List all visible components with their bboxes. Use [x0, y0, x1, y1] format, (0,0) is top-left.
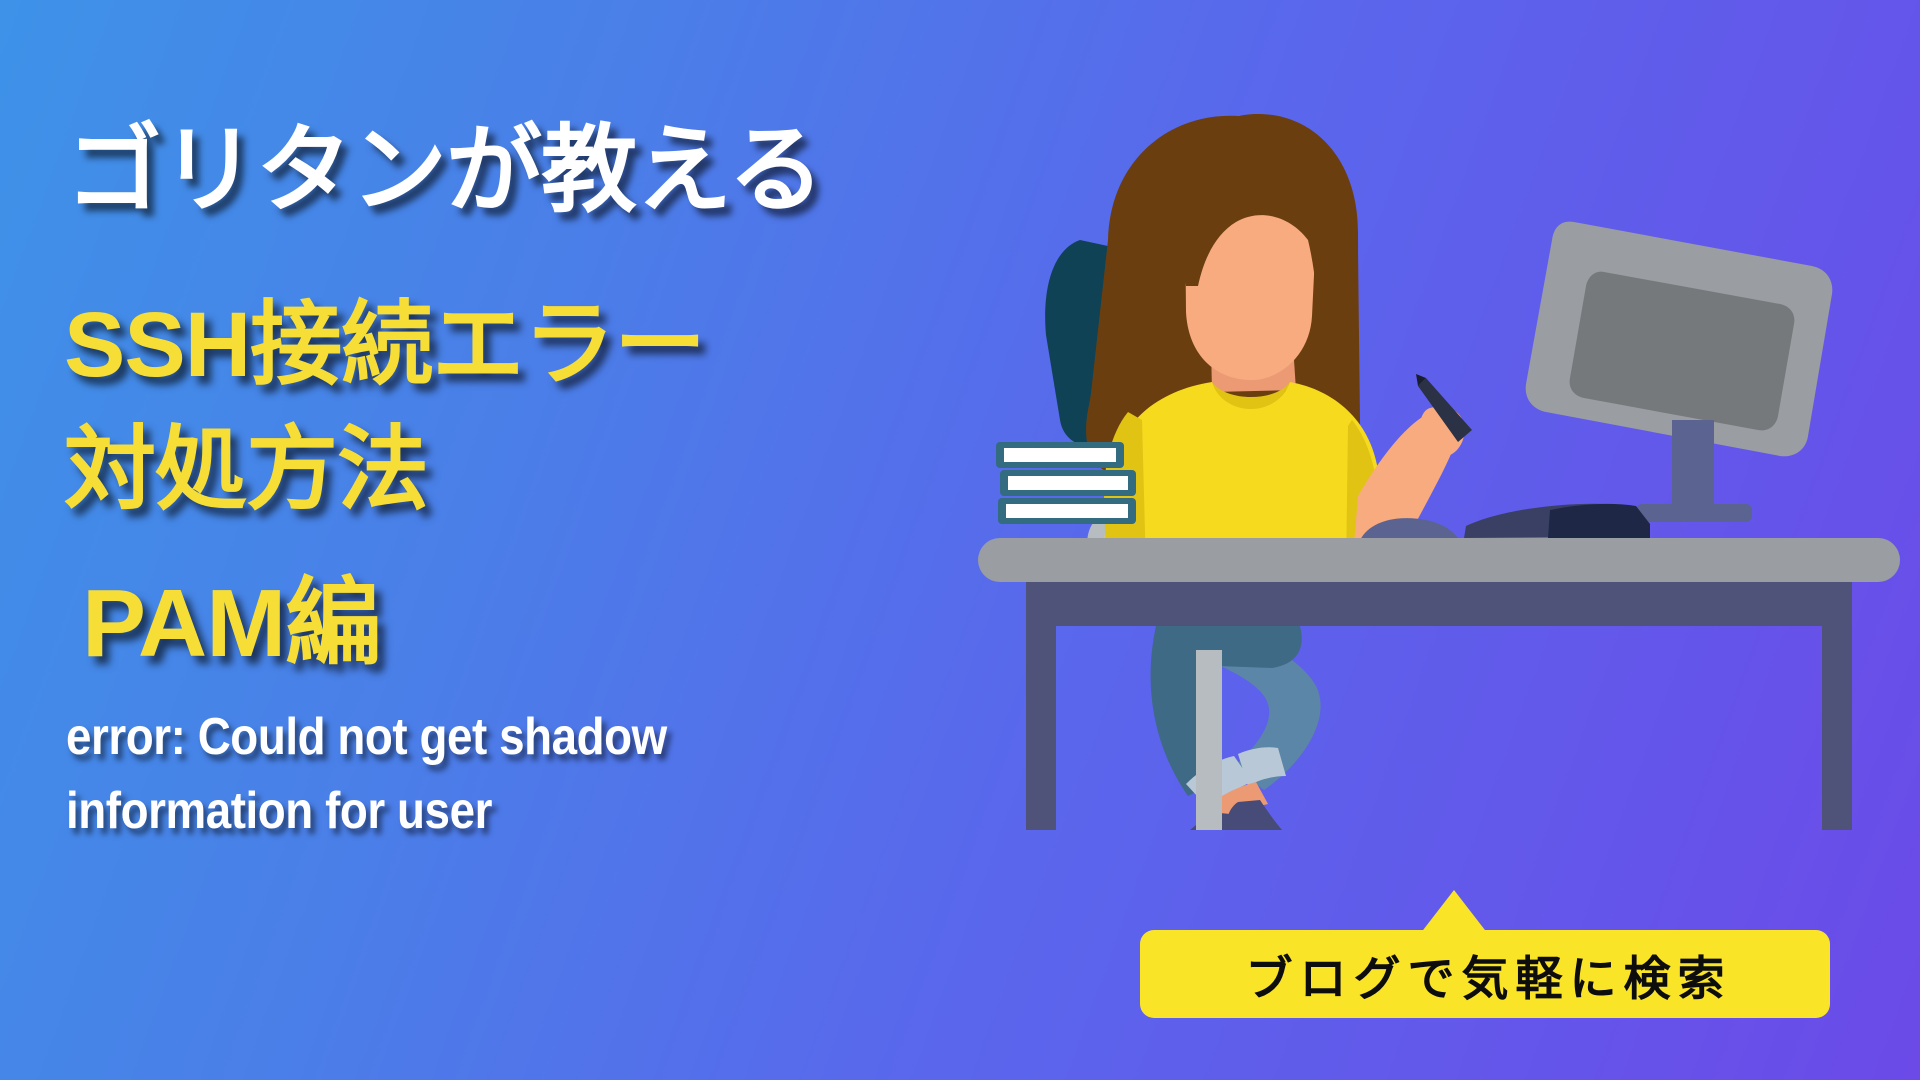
headline-line-3: 対処方法	[64, 395, 428, 528]
headline-line-4: PAM編	[82, 545, 380, 684]
error-message-line-1: error: Could not get shadow	[66, 700, 823, 774]
headline-text-block: ゴリタンが教える SSH接続エラー 対処方法 PAM編 error: Could…	[60, 0, 960, 1080]
cta-badge[interactable]: ブログで気軽に検索	[1140, 890, 1830, 1020]
book-stack	[996, 442, 1136, 524]
badge-pointer-icon	[1420, 890, 1488, 934]
badge-label: ブログで気軽に検索	[1239, 940, 1732, 1009]
error-message-block: error: Could not get shadow information …	[66, 700, 926, 848]
keyboard	[1464, 504, 1650, 538]
desk	[978, 538, 1900, 830]
monitor	[1526, 222, 1833, 522]
thumbnail-canvas: ゴリタンが教える SSH接続エラー 対処方法 PAM編 error: Could…	[0, 0, 1920, 1080]
error-message-line-2: information for user	[66, 774, 823, 848]
badge-box[interactable]: ブログで気軽に検索	[1140, 930, 1830, 1018]
headline-line-1: ゴリタンが教える	[66, 92, 823, 231]
headline-line-2: SSH接続エラー	[64, 270, 705, 403]
desk-illustration	[960, 90, 1920, 830]
